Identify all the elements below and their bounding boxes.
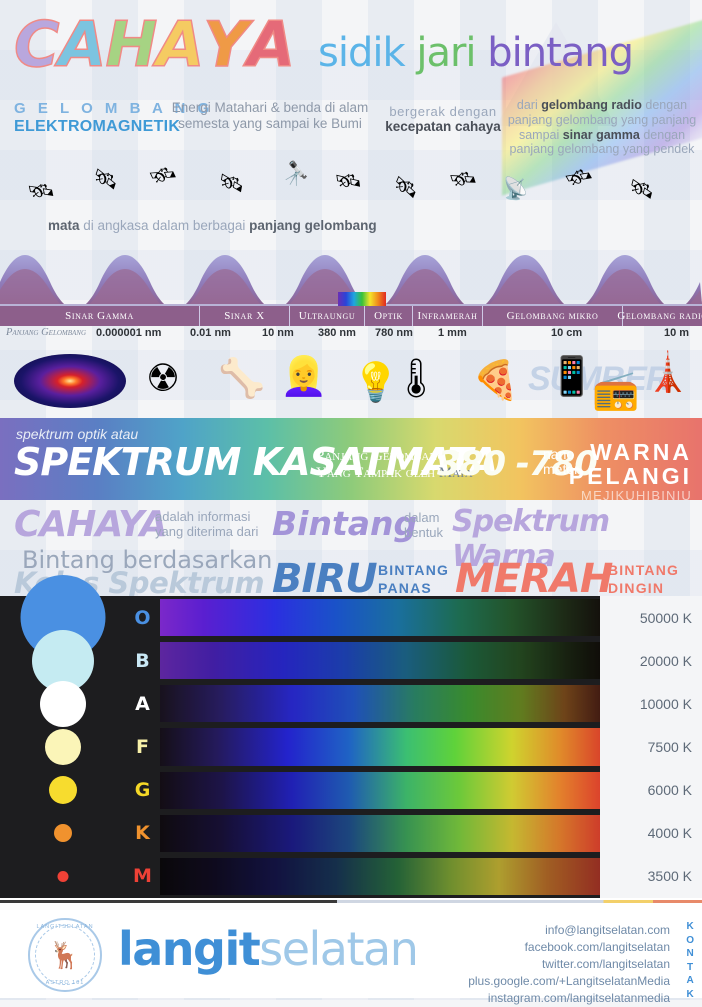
space-probe-icon: 🛰 bbox=[216, 170, 246, 198]
spectrum-strip-G bbox=[160, 772, 600, 809]
page-subtitle: sidik jari bintang bbox=[318, 30, 633, 76]
star-size-F bbox=[45, 729, 81, 765]
wavelength-tick-1: 0.01 nm bbox=[190, 327, 231, 339]
infrared-satellite-icon: 🛰 bbox=[447, 164, 480, 195]
intro-range-part-0: dari bbox=[517, 98, 541, 112]
xray-satellite-icon: 🛰 bbox=[388, 172, 422, 204]
temperature-label-F: 7500 K bbox=[648, 739, 692, 755]
wavelength-tick-3: 380 nm bbox=[318, 327, 356, 339]
title-letter-0: C bbox=[14, 14, 59, 76]
gamma-satellite-icon: 🛰 bbox=[562, 161, 597, 195]
title-letter-2: H bbox=[106, 14, 157, 76]
radio-receiver-icon: 📻 bbox=[592, 372, 639, 410]
temperature-label-M: 3500 K bbox=[648, 868, 692, 884]
intro-speed-line2: kecepatan cahaya bbox=[385, 119, 501, 134]
em-band-optik: Optik bbox=[365, 306, 413, 326]
temperature-label-B: 20000 K bbox=[640, 653, 692, 669]
wavelength-tick-7: 10 m bbox=[664, 327, 689, 339]
spectra-column bbox=[160, 596, 600, 898]
star-size-A bbox=[40, 681, 86, 727]
temperature-label-G: 6000 K bbox=[648, 782, 692, 798]
subtitle-word-1: jari bbox=[416, 30, 487, 76]
intro-speed-line1: bergerak dengan bbox=[378, 104, 508, 119]
spectral-class-letter-M: M bbox=[133, 865, 152, 887]
kontak-letter-1: O bbox=[686, 934, 694, 948]
langitselatan-seal-logo: LANGITSELATAN 🦌 ASTRO 101 bbox=[28, 918, 102, 992]
spectral-class-letter-O: O bbox=[134, 607, 150, 629]
star-size-G bbox=[49, 776, 77, 804]
caption-middle: di angkasa dalam berbagai bbox=[80, 218, 250, 233]
em-band-sinar-x: Sinar X bbox=[200, 306, 290, 326]
heater-infrared-icon: 🌡 bbox=[392, 360, 440, 398]
intro-text-row: G E L O M B A N G ELEKTROMAGNETIK Energi… bbox=[0, 96, 702, 164]
header: CAHAYA sidik jari bintang bbox=[0, 0, 702, 96]
satellite-band: mata di angkasa dalam berbagai panjang g… bbox=[0, 164, 702, 252]
contact-link-4[interactable]: instagram.com/langitselatanmedia bbox=[468, 990, 670, 1007]
warna-label: WARNA bbox=[569, 440, 692, 464]
spectrum-strip-A bbox=[160, 685, 600, 722]
infographic-page: CAHAYA sidik jari bintang G E L O M B A … bbox=[0, 0, 702, 1000]
brand-wordmark: langitselatan bbox=[118, 926, 417, 972]
em-band-inframerah: Inframerah bbox=[413, 306, 483, 326]
mejikuhibiniu-label: MEJIKUHIBINIU bbox=[569, 488, 692, 500]
intro-energy-text: Energi Matahari & benda di alam semesta … bbox=[170, 100, 370, 132]
kontak-letter-4: A bbox=[686, 974, 694, 988]
wavelength-tick-6: 10 cm bbox=[551, 327, 582, 339]
radio-tower-icon: 🗼 bbox=[644, 354, 691, 392]
hubble-icon: 🔭 bbox=[278, 159, 313, 193]
star-size-K bbox=[54, 824, 72, 842]
title-letter-4: Y bbox=[203, 14, 247, 76]
wavelength-tick-5: 1 mm bbox=[438, 327, 467, 339]
spectrum-strip-K bbox=[160, 815, 600, 852]
orbiter-icon: 🛰 bbox=[333, 168, 363, 195]
wavelength-axis-label: Panjang Gelombang bbox=[6, 327, 86, 338]
telescope-satellite-icon: 🛰 bbox=[89, 164, 122, 195]
intro-range-text: dari gelombang radio dengan panjang gelo… bbox=[506, 98, 698, 157]
seal-bottom-text: ASTRO 101 bbox=[30, 980, 100, 986]
bintang-panas-label: BINTANG PANAS bbox=[378, 562, 449, 597]
bintang-dingin-label: BINTANG DINGIN bbox=[608, 562, 679, 597]
cahaya-heading: CAHAYA bbox=[14, 504, 167, 545]
em-band-sinar-gamma: Sinar Gamma bbox=[0, 306, 200, 326]
radiation-hazard-icon: ☢ bbox=[146, 360, 180, 398]
deer-telescope-seal-icon: 🦌 bbox=[35, 925, 95, 985]
em-spectrum-band-bar: Sinar GammaSinar XUltraunguOptikInframer… bbox=[0, 304, 702, 326]
contact-link-2[interactable]: twitter.com/langitselatan bbox=[468, 956, 670, 973]
banner-rainbow-colors: WARNA PELANGI MEJIKUHIBINIU bbox=[569, 440, 692, 500]
em-band-ultraungu: Ultraungu bbox=[290, 306, 365, 326]
sunbathing-uv-icon: 👱‍♀ bbox=[280, 358, 327, 396]
microwave-oven-icon: 🍕 bbox=[472, 362, 519, 400]
contact-link-3[interactable]: plus.google.com/+LangitselatanMedia bbox=[468, 973, 670, 990]
satellite-caption: mata di angkasa dalam berbagai panjang g… bbox=[48, 218, 377, 233]
caption-panjang-gelombang: panjang gelombang bbox=[249, 218, 377, 233]
wavelength-tick-2: 10 nm bbox=[262, 327, 294, 339]
optical-spectrum-banner: spektrum optik atau SPEKTRUM KASATMATA P… bbox=[0, 418, 702, 500]
footer: LANGITSELATAN 🦌 ASTRO 101 langitselatan … bbox=[0, 898, 702, 998]
bintang-heading: Bintang bbox=[272, 504, 417, 543]
optical-spectrum-chip-icon bbox=[338, 292, 386, 306]
title-letter-5: A bbox=[247, 14, 294, 76]
spectral-class-letter-F: F bbox=[136, 736, 149, 758]
temperature-label-A: 10000 K bbox=[640, 696, 692, 712]
spectral-class-letter-column: OBAFGKM bbox=[125, 596, 160, 898]
spectral-class-letter-B: B bbox=[135, 650, 149, 672]
spectral-class-letter-A: A bbox=[135, 693, 150, 715]
spectral-class-letter-K: K bbox=[135, 822, 150, 844]
wavelength-scale: Panjang Gelombang 0.000001 nm0.01 nm10 n… bbox=[0, 326, 702, 344]
gamma-ray-sky-map-icon bbox=[14, 354, 126, 408]
temperature-label-K: 4000 K bbox=[648, 825, 692, 841]
temperature-label-O: 50000 K bbox=[640, 610, 692, 626]
micro-satellite-icon: 🛰 bbox=[625, 175, 657, 205]
title-letter-1: A bbox=[59, 14, 106, 76]
title-letter-3: A bbox=[156, 14, 203, 76]
spectrum-strip-B bbox=[160, 642, 600, 679]
spectral-class-chart: OBAFGKM 50000 K20000 K10000 K7500 K6000 … bbox=[0, 596, 702, 898]
brand-selatan: selatan bbox=[259, 922, 417, 976]
em-sources-row: SUMBER ☢🦴👱‍♀💡🌡🍕📱📻🗼 bbox=[0, 344, 702, 418]
star-size-M bbox=[57, 871, 68, 882]
spectral-class-letter-G: G bbox=[135, 779, 151, 801]
footer-divider bbox=[0, 900, 702, 903]
intro-range-part-1: gelombang radio bbox=[541, 98, 642, 112]
kontak-letter-0: K bbox=[686, 920, 694, 934]
kontak-vertical-label: KONTAK bbox=[686, 920, 694, 1002]
em-band-gelombang-radio: Gelombang radio bbox=[623, 306, 702, 326]
satellite-icon: 🛰 bbox=[26, 177, 57, 206]
spectrum-strip-M bbox=[160, 858, 600, 895]
contact-link-1[interactable]: facebook.com/langitselatan bbox=[468, 939, 670, 956]
contact-link-0[interactable]: info@langitselatan.com bbox=[468, 922, 670, 939]
dalam-bentuk-text: dalam bentuk bbox=[404, 511, 443, 541]
em-band-gelombang-mikro: Gelombang mikro bbox=[483, 306, 623, 326]
pelangi-label: PELANGI bbox=[569, 464, 692, 488]
mobile-phone-icon: 📱 bbox=[548, 358, 595, 396]
page-title: CAHAYA bbox=[14, 14, 294, 76]
light-star-text-block: CAHAYA adalah informasi yang diterima da… bbox=[0, 500, 702, 596]
intro-range-part-3: sinar gamma bbox=[563, 128, 640, 142]
caption-mata: mata bbox=[48, 218, 80, 233]
subtitle-word-2: bintang bbox=[487, 30, 633, 76]
kontak-letter-2: N bbox=[686, 947, 694, 961]
intro-speed-text: bergerak dengan kecepatan cahaya bbox=[378, 104, 508, 135]
observatory-satellite-icon: 🛰 bbox=[146, 159, 180, 192]
star-size-column bbox=[0, 596, 125, 898]
contact-links: info@langitselatan.comfacebook.com/langi… bbox=[468, 922, 670, 1007]
xray-scan-icon: 🦴 bbox=[218, 360, 265, 398]
wavelength-tick-0: 0.000001 nm bbox=[96, 327, 161, 339]
brand-langit: langit bbox=[118, 922, 259, 976]
wavelength-tick-4: 780 nm bbox=[375, 327, 413, 339]
adalah-informasi-text: adalah informasi yang diterima dari bbox=[155, 510, 258, 540]
temperature-column: 50000 K20000 K10000 K7500 K6000 K4000 K3… bbox=[600, 596, 702, 898]
spectrum-strip-O bbox=[160, 599, 600, 636]
spectrum-strip-F bbox=[160, 728, 600, 765]
kontak-letter-3: T bbox=[686, 961, 694, 975]
subtitle-word-0: sidik bbox=[318, 30, 416, 76]
radio-satellite-icon: 📡 bbox=[501, 177, 530, 204]
